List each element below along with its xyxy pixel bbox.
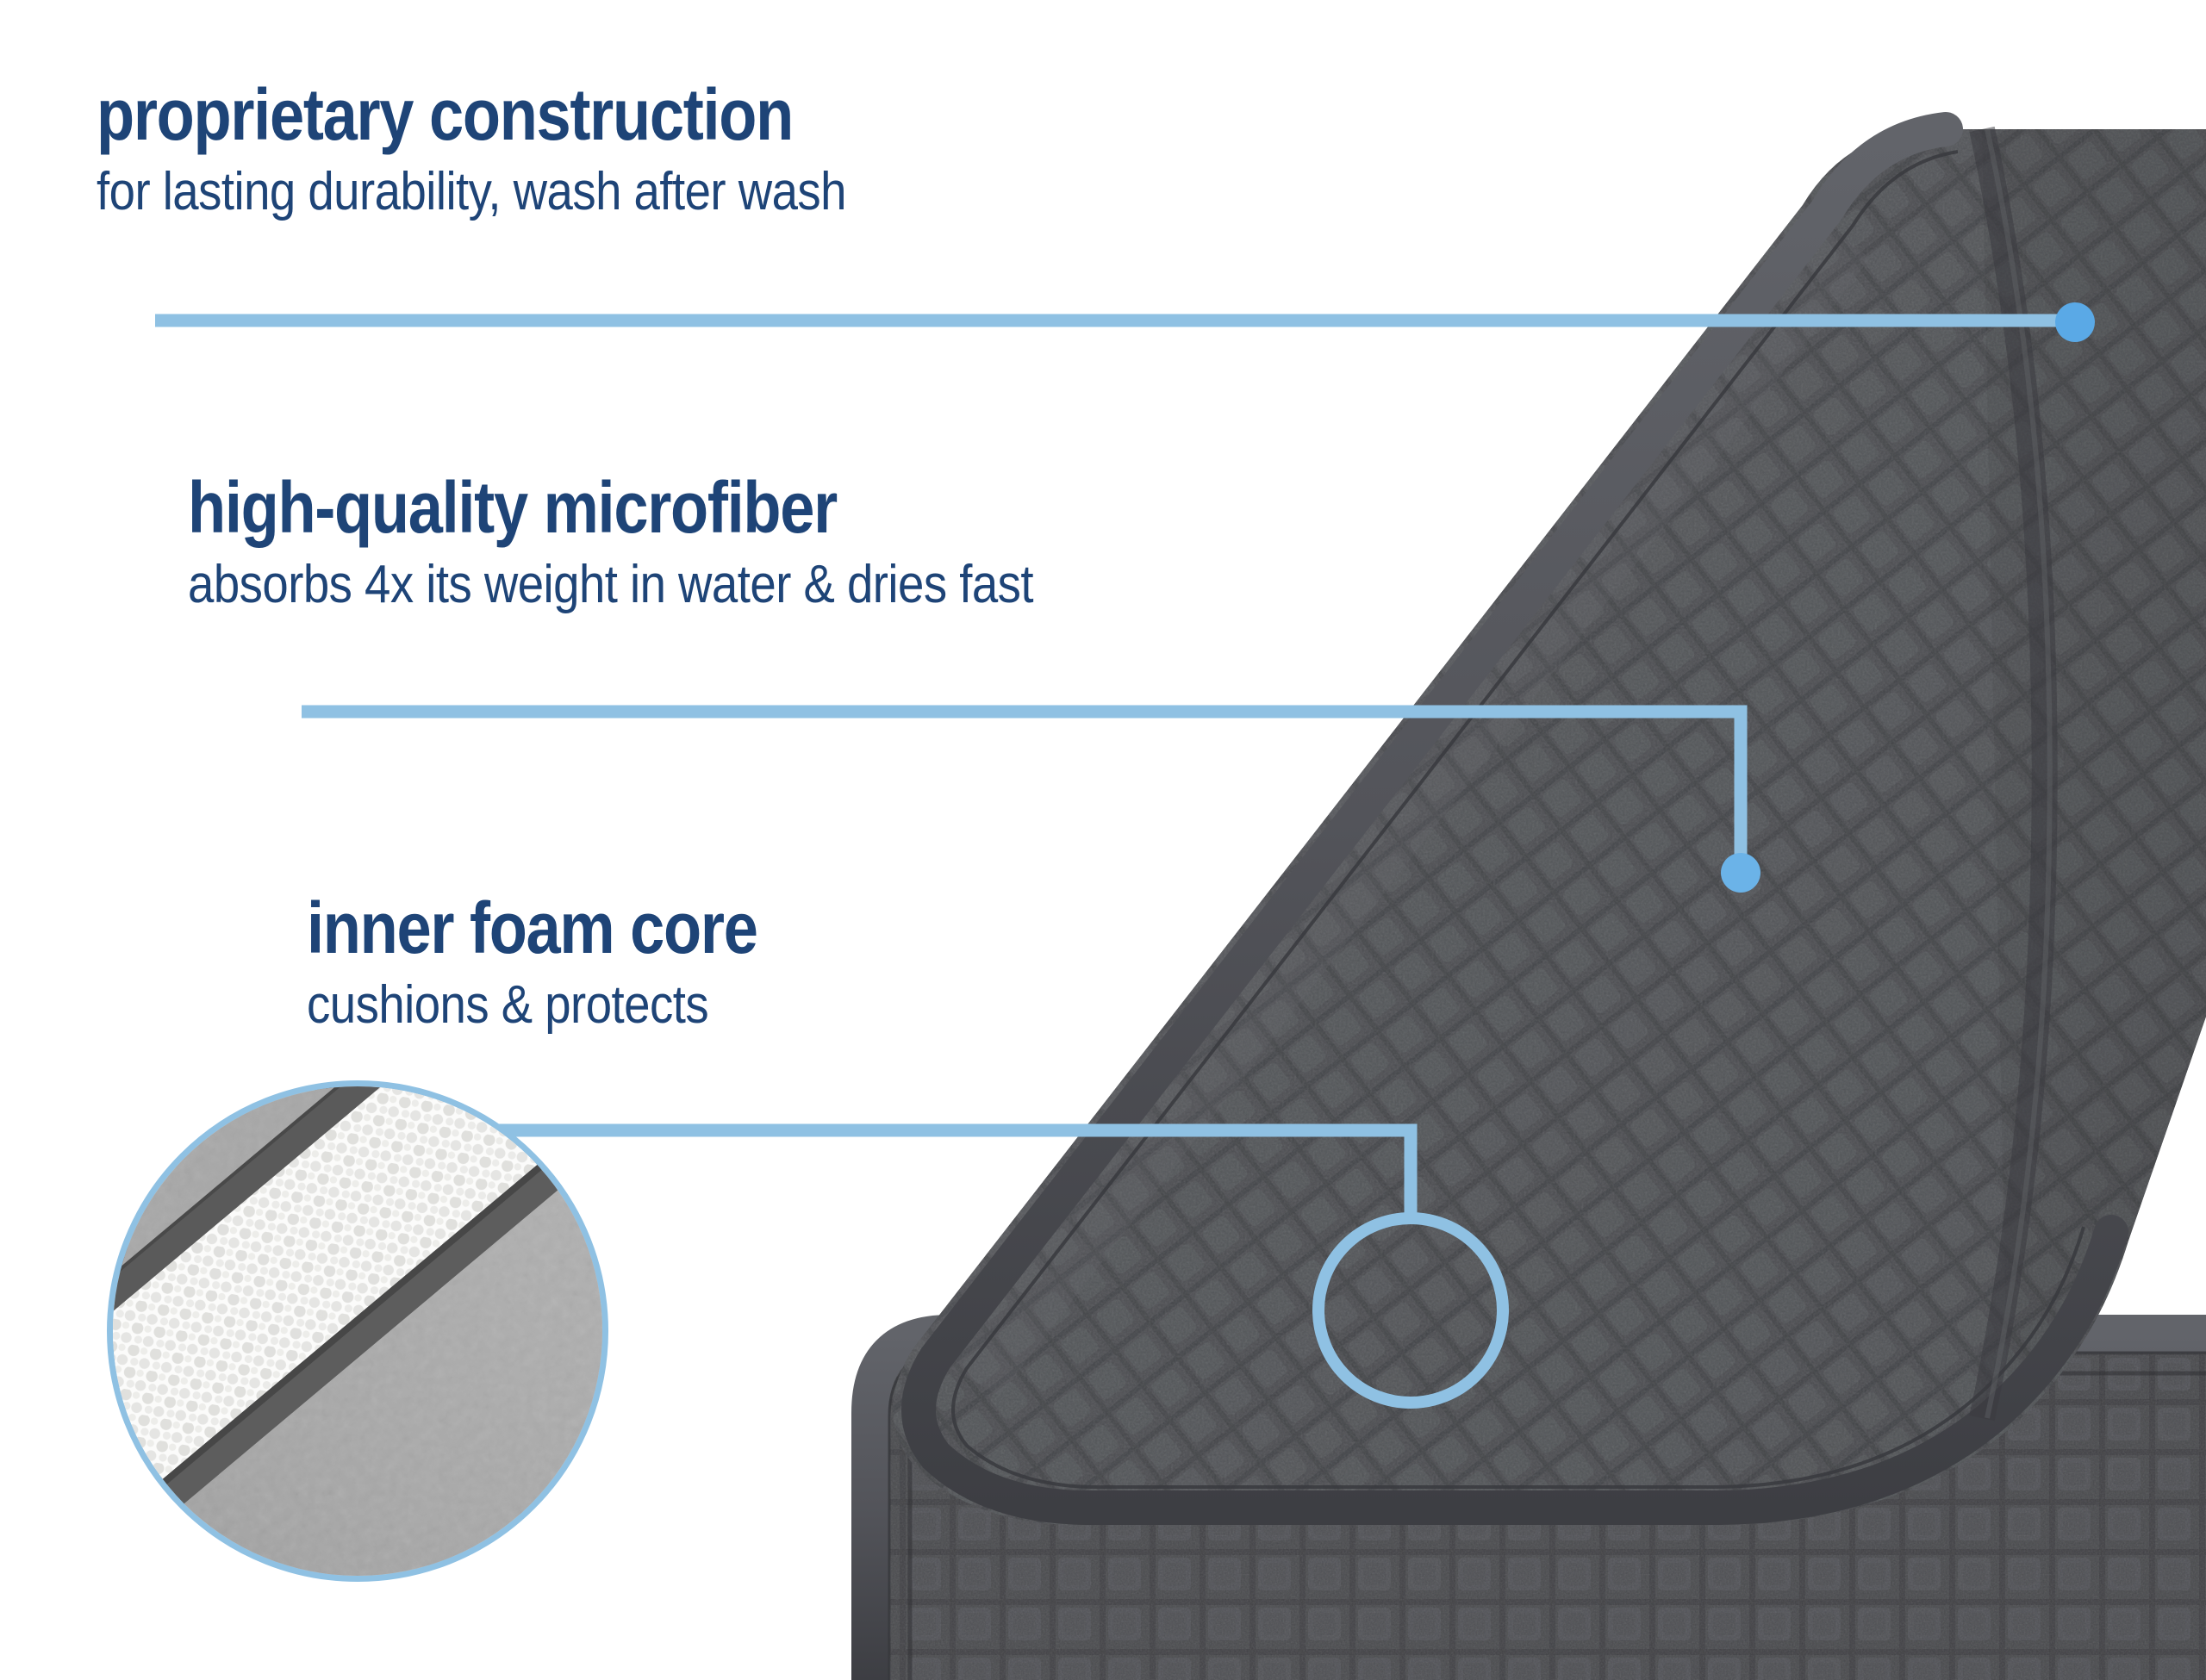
callout-subtitle: absorbs 4x its weight in water & dries f… [188,557,1033,613]
connector-high-quality-microfiber [302,712,1760,893]
connector-endpoint-ring [1318,1218,1503,1403]
callout-inner-foam-core: inner foam core cushions & protects [307,893,831,1033]
connector-inner-foam-core [483,1130,1503,1403]
connector-proprietary-construction [155,302,2095,342]
connector-endpoint-dot [1721,853,1760,893]
foam-core-detail-inset [107,1080,608,1582]
callout-subtitle: for lasting durability, wash after wash [97,164,846,220]
callout-title: high-quality microfiber [188,472,1014,543]
callout-proprietary-construction: proprietary construction for lasting dur… [97,79,949,220]
infographic-canvas: proprietary construction for lasting dur… [0,0,2206,1680]
callout-high-quality-microfiber: high-quality microfiber absorbs 4x its w… [188,472,1149,613]
callout-subtitle: cushions & protects [307,977,768,1033]
callout-title: inner foam core [307,893,757,963]
connector-endpoint-dot [2055,302,2095,342]
callout-title: proprietary construction [97,79,829,150]
